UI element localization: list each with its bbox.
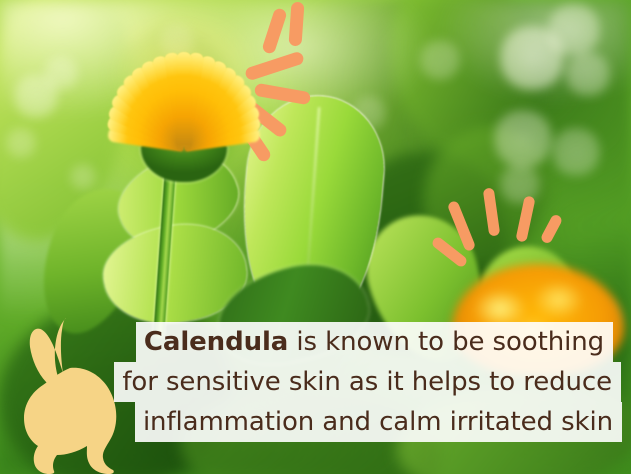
- bokeh-circle: [548, 4, 600, 56]
- flower-petal: [177, 52, 192, 144]
- bokeh-circle: [494, 110, 552, 168]
- caption-line-1-rest: is known to be soothing: [288, 327, 604, 357]
- bokeh-circle: [6, 128, 36, 158]
- calendula-flower-main: [96, 18, 272, 160]
- bokeh-circle: [420, 40, 460, 80]
- caption-keyword: Calendula: [144, 327, 288, 357]
- bokeh-circle: [70, 164, 96, 190]
- promo-image-card: Calendula is known to be soothing for se…: [0, 0, 631, 474]
- caption-line-2: for sensitive skin as it helps to reduce: [114, 362, 621, 402]
- caption-line-1: Calendula is known to be soothing: [136, 322, 613, 362]
- bokeh-circle: [566, 52, 610, 96]
- caption-line-3: inflammation and calm irritated skin: [135, 402, 622, 442]
- bokeh-circle: [552, 128, 600, 176]
- caption-block: Calendula is known to be soothing for se…: [0, 322, 631, 442]
